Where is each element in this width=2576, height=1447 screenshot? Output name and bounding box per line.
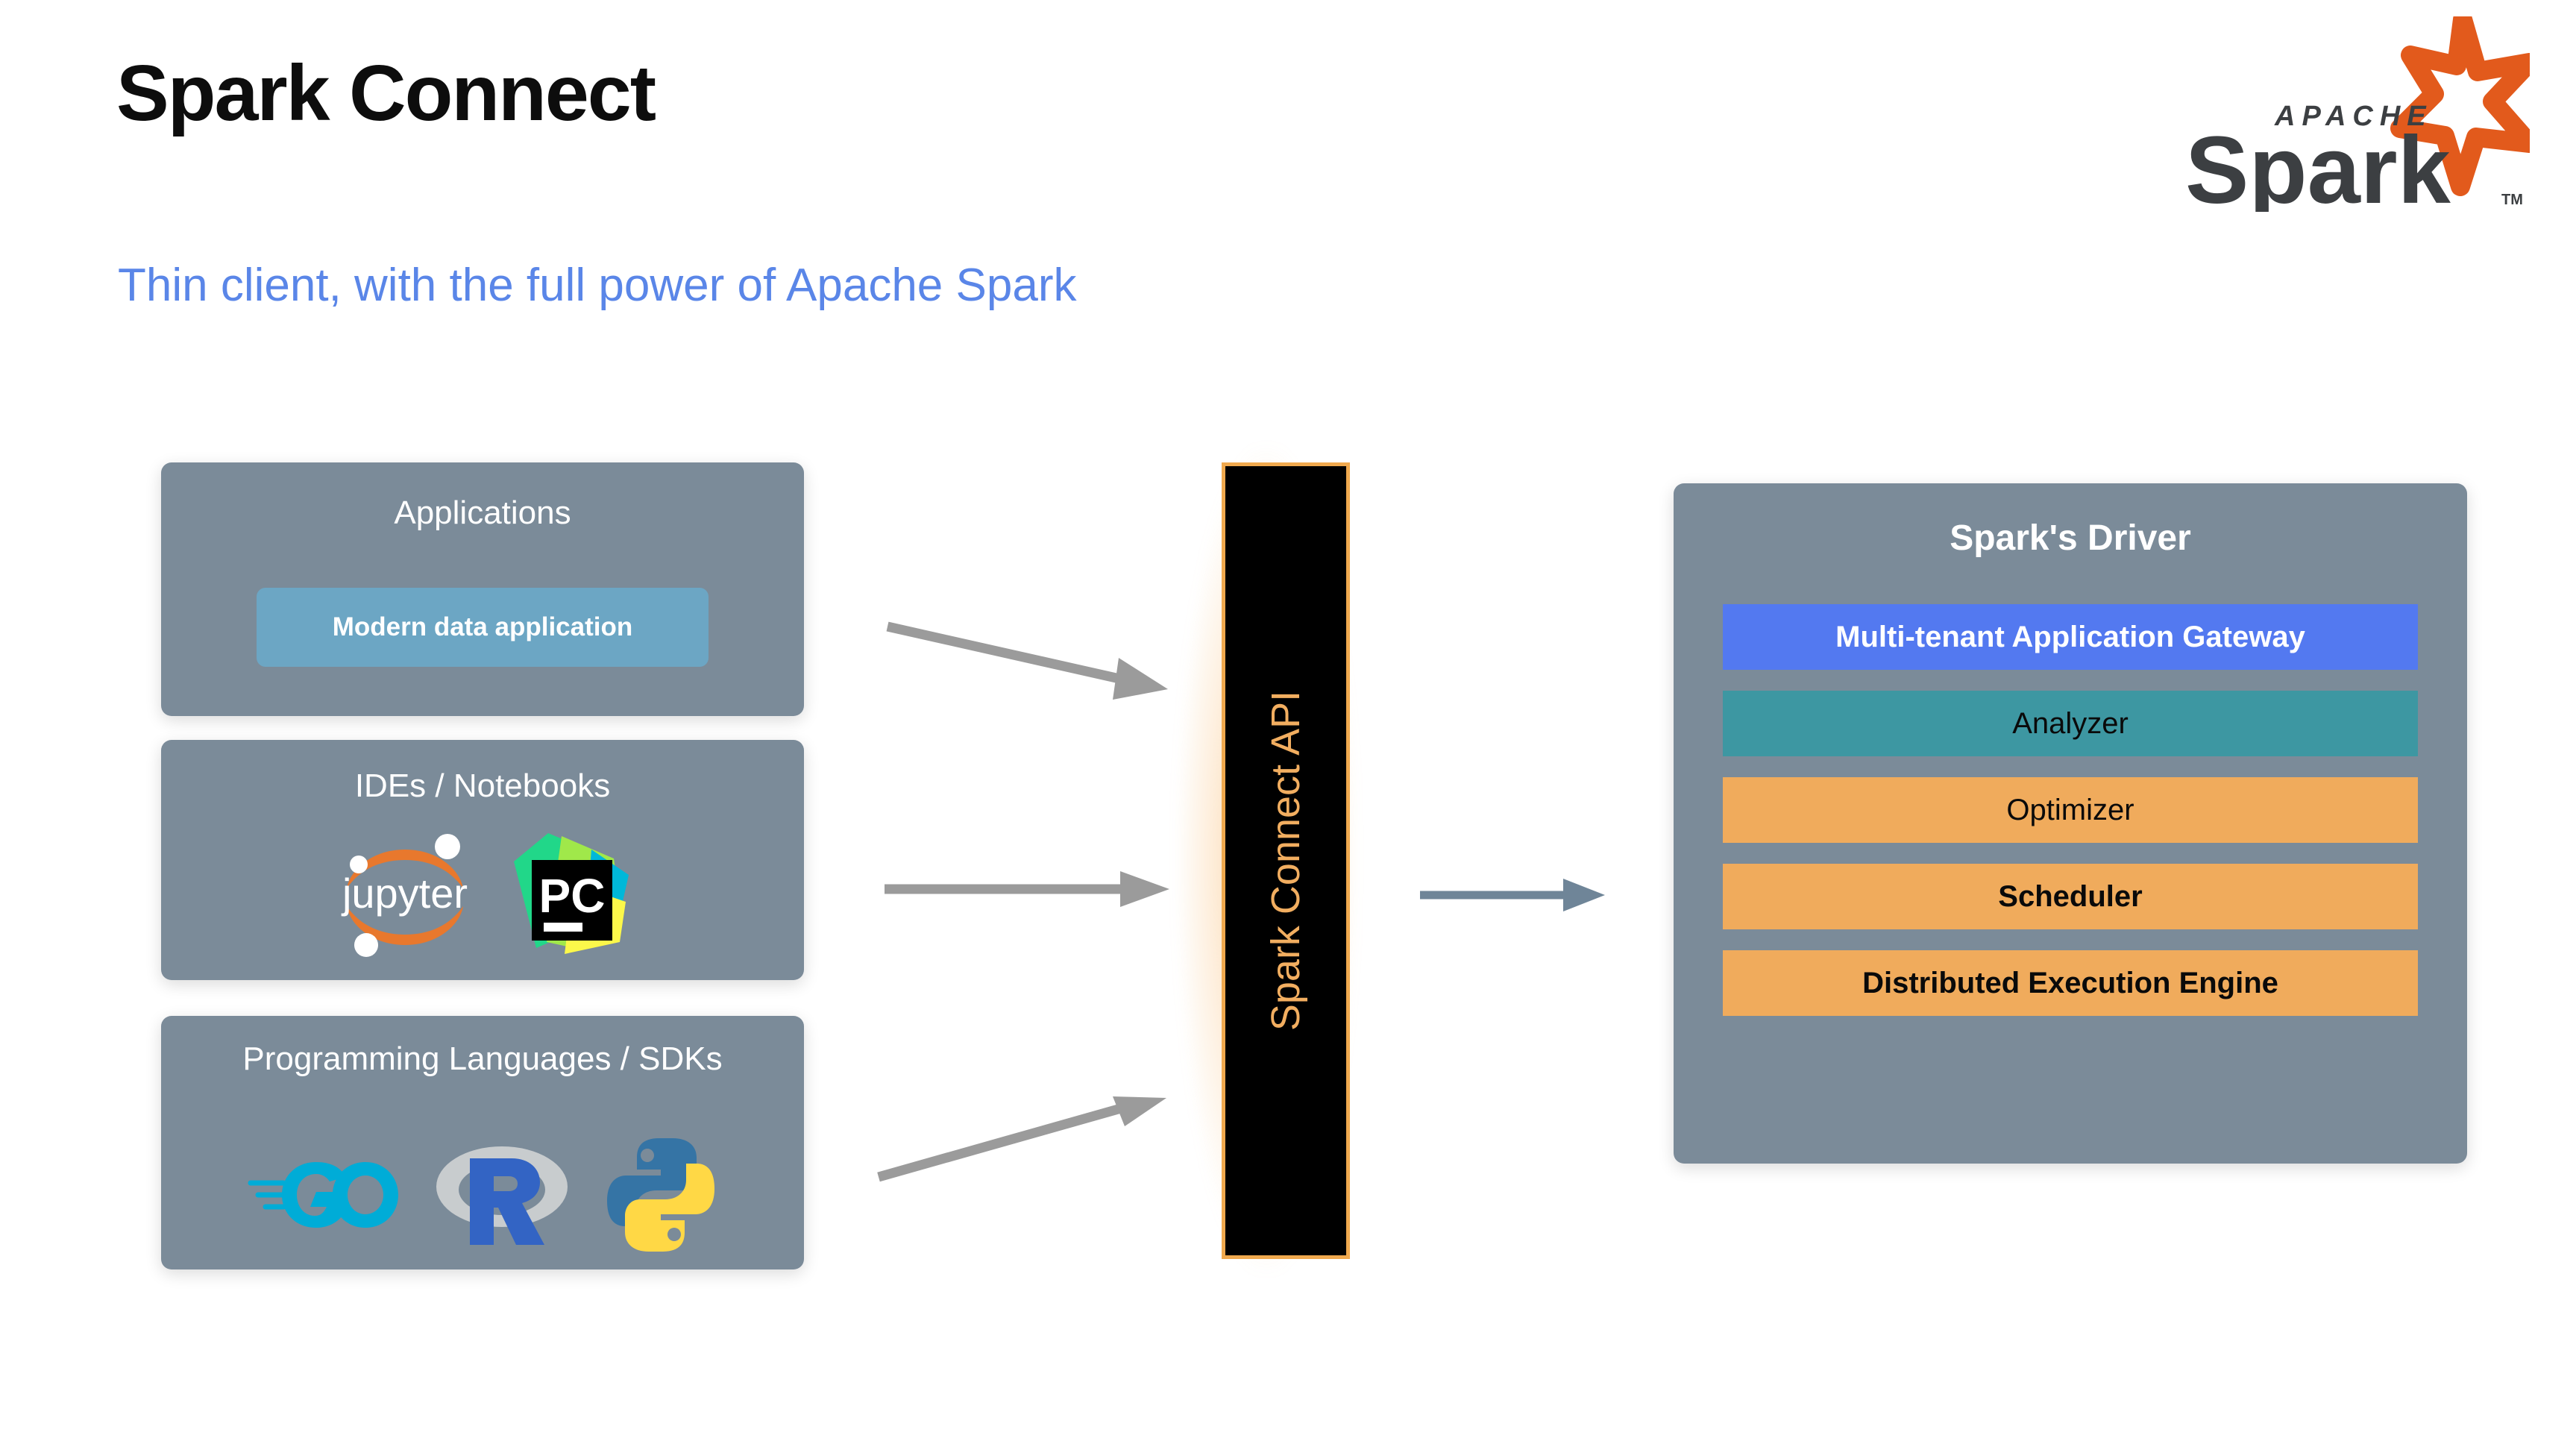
driver-row-label: Analyzer: [2012, 709, 2129, 738]
spark-driver-title: Spark's Driver: [1674, 518, 2467, 560]
jupyter-logo: jupyter: [330, 824, 480, 964]
arrow-api-to-driver: [1417, 858, 1678, 932]
page-title: Spark Connect: [116, 54, 655, 133]
languages-logo-row: [161, 1135, 804, 1255]
pycharm-logo: PC: [509, 830, 635, 958]
driver-row-distributed-execution-engine[interactable]: Distributed Execution Engine: [1723, 950, 2418, 1016]
card-programming-languages: Programming Languages / SDKs: [161, 1016, 804, 1269]
card-ides-notebooks-title: IDEs / Notebooks: [161, 767, 804, 806]
go-speed-lines-icon: [251, 1183, 286, 1207]
page-subtitle: Thin client, with the full power of Apac…: [118, 263, 1076, 309]
modern-data-application-box[interactable]: Modern data application: [257, 588, 709, 667]
driver-row-label: Scheduler: [1998, 882, 2142, 911]
pycharm-wordmark: PC: [539, 869, 606, 923]
driver-row-label: Multi-tenant Application Gateway: [1835, 622, 2305, 652]
card-applications-title: Applications: [161, 494, 804, 533]
arrow-applications-to-api: [880, 612, 1193, 716]
jupyter-wordmark: jupyter: [341, 870, 468, 917]
driver-row-scheduler[interactable]: Scheduler: [1723, 864, 2418, 929]
spark-connect-api-bar[interactable]: Spark Connect API: [1222, 462, 1350, 1259]
card-applications: Applications Modern data application: [161, 462, 804, 716]
driver-row-analyzer[interactable]: Analyzer: [1723, 691, 2418, 756]
r-logo: [431, 1139, 573, 1251]
modern-data-application-label: Modern data application: [333, 612, 633, 642]
driver-row-optimizer[interactable]: Optimizer: [1723, 777, 2418, 843]
card-ides-notebooks: IDEs / Notebooks jupyter PC: [161, 740, 804, 980]
arrow-languages-to-api: [865, 1044, 1193, 1193]
go-logo: [248, 1149, 400, 1241]
spark-connect-api-label: Spark Connect API: [1263, 691, 1309, 1031]
card-programming-languages-title: Programming Languages / SDKs: [161, 1040, 804, 1079]
apache-spark-logo: APACHE Spark TM: [2164, 16, 2530, 212]
card-spark-driver: Spark's Driver Multi-tenant Application …: [1674, 483, 2467, 1164]
driver-rows: Multi-tenant Application Gateway Analyze…: [1723, 604, 2418, 1016]
driver-row-gateway[interactable]: Multi-tenant Application Gateway: [1723, 604, 2418, 670]
spark-wordmark: Spark: [2185, 117, 2451, 212]
python-logo: [604, 1135, 717, 1255]
arrow-ides-to-api: [880, 850, 1193, 925]
trademark-symbol: TM: [2501, 192, 2523, 208]
driver-row-label: Optimizer: [2006, 795, 2134, 825]
pycharm-underscore-icon: [544, 923, 582, 932]
driver-row-label: Distributed Execution Engine: [1862, 968, 2278, 998]
ides-logo-row: jupyter PC: [161, 823, 804, 965]
